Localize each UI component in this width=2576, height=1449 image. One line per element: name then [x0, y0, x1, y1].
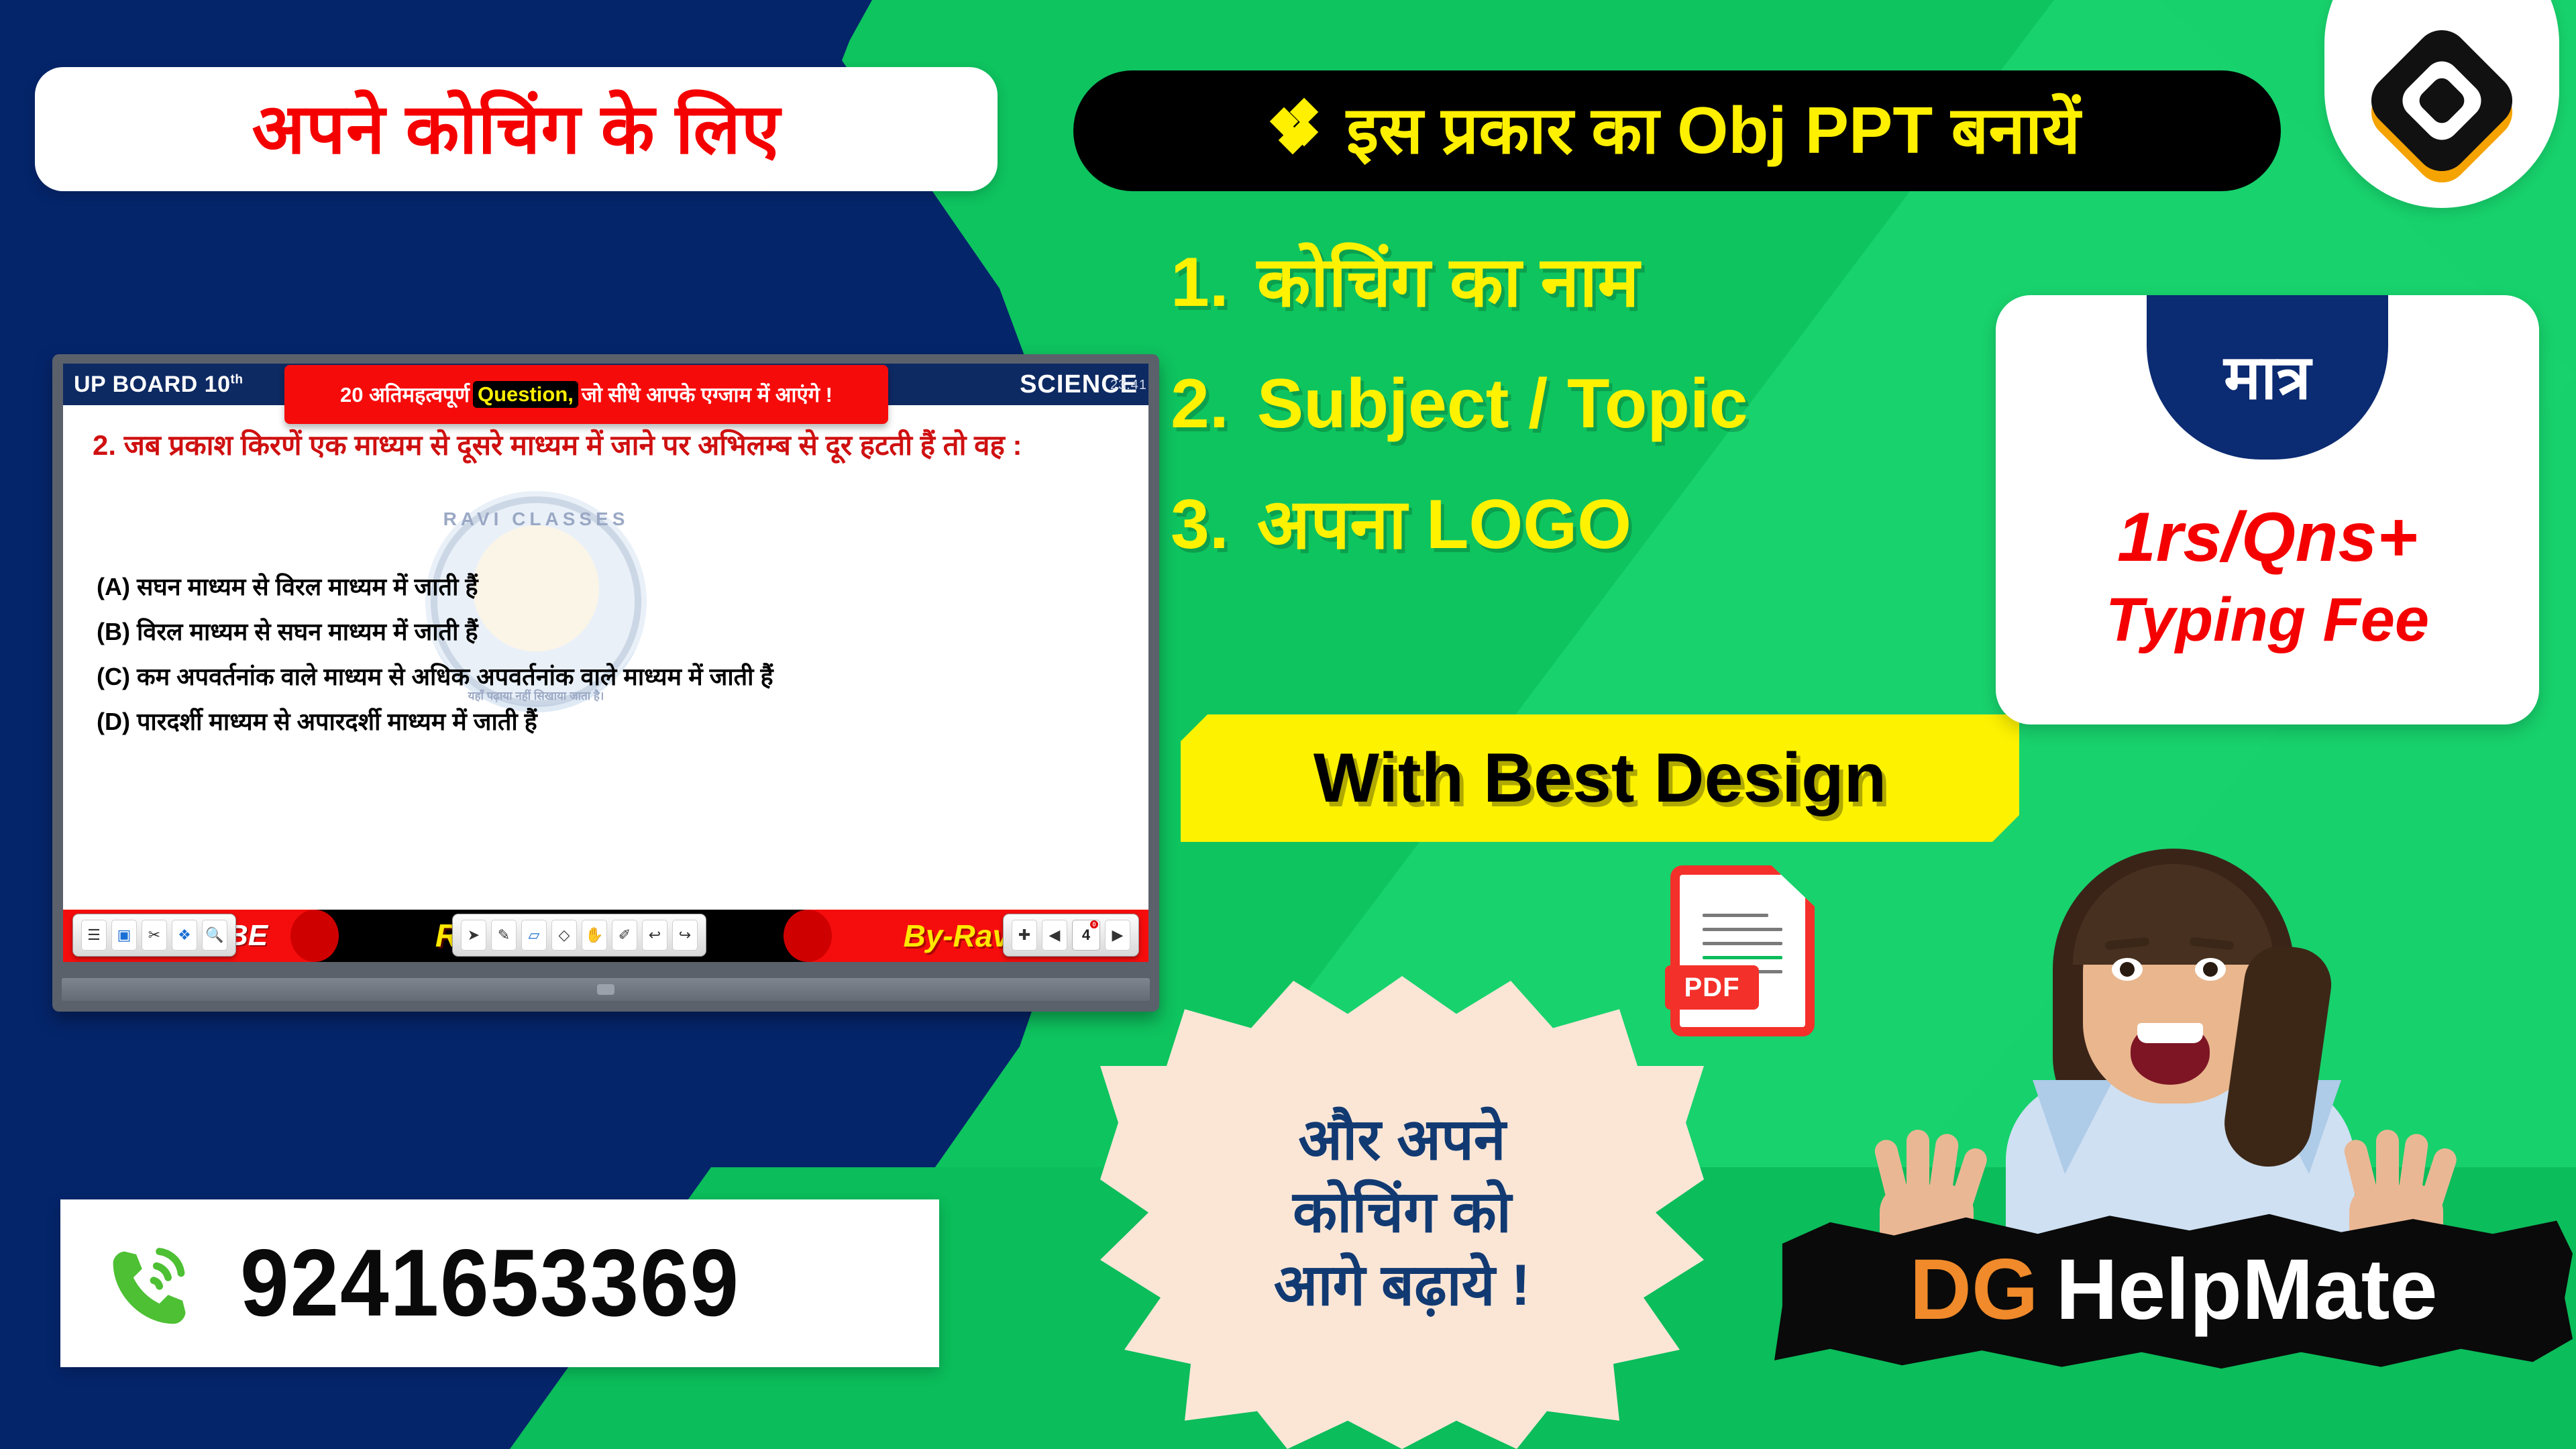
shape-icon[interactable]: ◇ [551, 920, 577, 951]
board-options-list: (A) सघन माध्यम से विरल माध्यम में जाती ह… [97, 565, 1122, 745]
interactive-whiteboard: UP BOARD 10th SCIENCE 23:41 20 अतिमहत्वप… [52, 354, 1159, 1012]
undo-icon[interactable]: ↩ [642, 920, 667, 951]
contact-box[interactable]: 9241653369 [60, 1199, 939, 1367]
page-number: 4 [1082, 926, 1090, 944]
woman-teeth [2137, 1023, 2203, 1043]
tools-icon[interactable]: ✂ [142, 920, 167, 951]
board-exam-label-text: UP BOARD 10 [74, 372, 231, 397]
board-option-c: (C) कम अपवर्तनांक वाले माध्यम से अधिक अप… [97, 655, 1122, 700]
starburst-line-1: और अपने [1100, 1104, 1704, 1176]
feature-list-item-3: 3. अपना LOGO [1171, 484, 2036, 566]
feature-number-1: 1. [1171, 241, 1229, 324]
pdf-label: PDF [1665, 965, 1759, 1010]
redo-icon[interactable]: ↪ [672, 920, 698, 951]
best-design-badge-text: With Best Design [1313, 739, 1886, 818]
cursor-icon[interactable]: ➤ [461, 920, 486, 951]
feature-list: 1. कोचिंग का नाम 2. Subject / Topic 3. अ… [1171, 241, 2036, 605]
starburst-text: और अपने कोचिंग को आगे बढ़ाये ! [1100, 1104, 1704, 1322]
brand-logo-dg: DG [1910, 1247, 2039, 1333]
brand-logo-helpmate: HelpMate [2056, 1247, 2438, 1333]
board-question-text: 2. जब प्रकाश किरणें एक माध्यम से दूसरे म… [93, 425, 1118, 466]
pen-icon[interactable]: ✎ [491, 920, 517, 951]
board-exam-label: UP BOARD 10th [74, 372, 243, 398]
feature-label-2: Subject / Topic [1257, 363, 1748, 445]
woman-eye-right [2195, 958, 2226, 981]
contact-phone-number: 9241653369 [240, 1236, 740, 1331]
board-subject-label: SCIENCE 23:41 [1020, 370, 1138, 399]
price-card-tab: मात्र [2147, 295, 2388, 460]
feature-number-2: 2. [1171, 363, 1229, 445]
coaching-pill-text: अपने कोचिंग के लिए [252, 95, 780, 164]
board-foot-bar [62, 978, 1150, 1001]
feature-list-item-2: 2. Subject / Topic [1171, 363, 2036, 445]
price-card-tab-text: मात्र [2224, 347, 2311, 409]
page-number-box[interactable]: 4 0 [1072, 920, 1100, 951]
board-toolbar-pen[interactable]: ➤ ✎ ▱ ◇ ✋ ✐ ↩ ↪ [452, 914, 706, 957]
board-clock: 23:41 [1110, 378, 1147, 393]
board-toolbar-left[interactable]: ☰ ▣ ✂ ❖ 🔍 [72, 914, 236, 957]
logo-ring [2396, 54, 2489, 148]
prev-page-icon[interactable]: ◀ [1042, 920, 1067, 951]
starburst-badge: और अपने कोचिंग को आगे बढ़ाये ! [1100, 976, 1704, 1449]
add-icon[interactable]: ✚ [1012, 920, 1037, 951]
menu-icon[interactable]: ☰ [81, 920, 107, 951]
board-option-b: (B) विरल माध्यम से सघन माध्यम में जाती ह… [97, 610, 1122, 655]
ribbon-text-part1: 20 अतिमहत्वपूर्ण [340, 380, 470, 409]
phone-call-icon [107, 1237, 200, 1330]
ribbon-text-part3: जो सीधे आपके एग्जाम में आएंगे ! [582, 380, 833, 409]
ribbon-text-highlight: Question, [473, 381, 578, 408]
highlighter-icon[interactable]: ✐ [612, 920, 637, 951]
brand-logo: DG HelpMate [1774, 1207, 2573, 1372]
feature-label-3: अपना LOGO [1257, 484, 1631, 566]
board-headline-ribbon: 20 अतिमहत्वपूर्ण Question, जो सीधे आपके … [284, 365, 888, 424]
diamond-bullet-icon [1274, 106, 1324, 156]
price-card: मात्र 1rs/Qns+ Typing Fee [1996, 295, 2539, 724]
price-card-sub: Typing Fee [1996, 584, 2539, 657]
eraser-icon[interactable]: ▱ [521, 920, 547, 951]
price-card-main: 1rs/Qns+ [1996, 496, 2539, 579]
hand-icon[interactable]: ✋ [582, 920, 607, 951]
board-option-d: (D) पारदर्शी माध्यम से अपारदर्शी माध्यम … [97, 700, 1122, 745]
pdf-file-icon: PDF [1670, 865, 1815, 1036]
display-icon[interactable]: ▣ [111, 920, 137, 951]
feature-number-3: 3. [1171, 484, 1229, 566]
board-foot-knob [597, 984, 614, 995]
header-banner-text: इस प्रकार का Obj PPT बनायें [1346, 95, 2080, 167]
logo-core [2415, 74, 2468, 127]
zoom-icon[interactable]: 🔍 [202, 920, 227, 951]
diamond-square-logo-icon [2360, 19, 2523, 182]
watermark-label: RAVI CLASSES [425, 508, 647, 530]
poster-canvas: अपने कोचिंग के लिए इस प्रकार का Obj PPT … [0, 0, 2576, 1449]
starburst-line-3: आगे बढ़ाये ! [1100, 1249, 1704, 1322]
pdf-page-shape [1670, 865, 1815, 1036]
feature-list-item-1: 1. कोचिंग का नाम [1171, 241, 2036, 324]
apps-icon[interactable]: ❖ [172, 920, 197, 951]
next-page-icon[interactable]: ▶ [1105, 920, 1130, 951]
board-toolbar-pages[interactable]: ✚ ◀ 4 0 ▶ [1003, 914, 1139, 957]
woman-eye-left [2112, 958, 2143, 981]
starburst-line-2: कोचिंग को [1100, 1176, 1704, 1248]
coaching-pill: अपने कोचिंग के लिए [35, 67, 998, 191]
page-badge: 0 [1090, 920, 1098, 928]
board-option-a: (A) सघन माध्यम से विरल माध्यम में जाती ह… [97, 565, 1122, 610]
feature-label-1: कोचिंग का नाम [1257, 241, 1640, 324]
board-screen: UP BOARD 10th SCIENCE 23:41 20 अतिमहत्वप… [63, 364, 1148, 962]
board-exam-label-sup: th [231, 372, 244, 386]
header-banner: इस प्रकार का Obj PPT बनायें [1073, 70, 2281, 191]
